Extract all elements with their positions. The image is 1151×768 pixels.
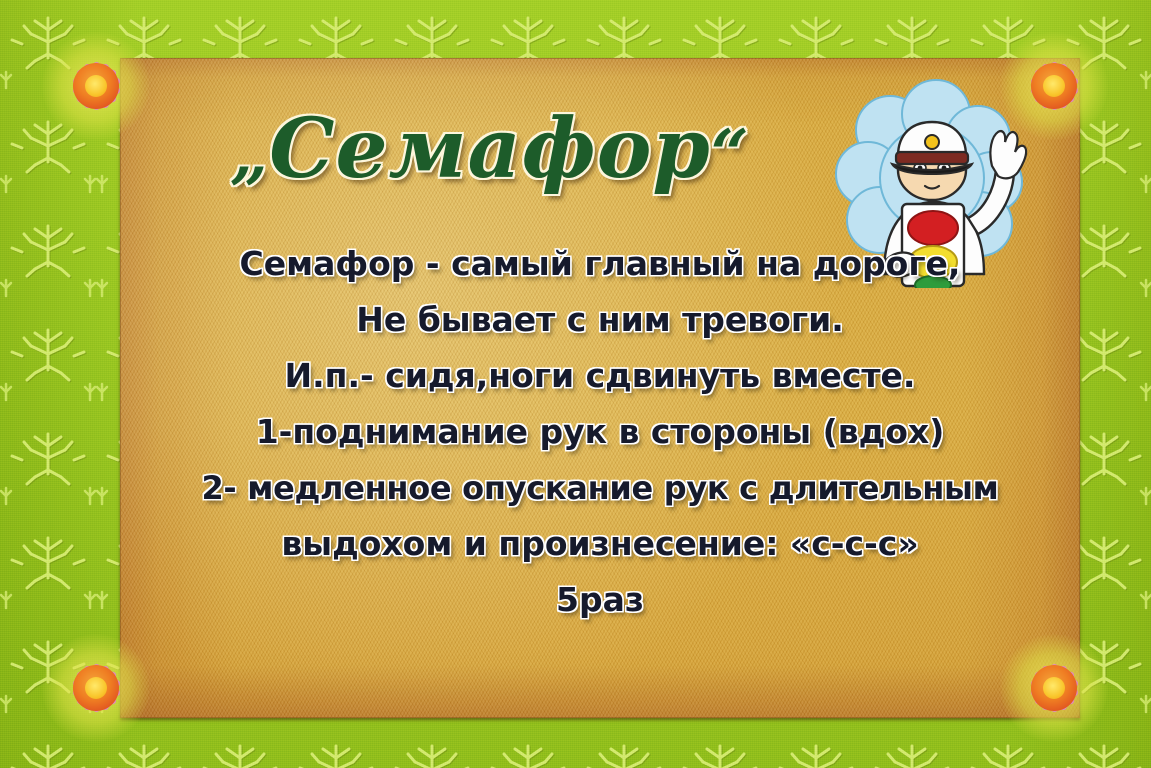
poem-line: И.п.- сидя,ноги сдвинуть вместе.	[285, 348, 916, 404]
poster-canvas: „Семафор“	[0, 0, 1151, 768]
flower-decoration-bottom-left	[42, 634, 150, 742]
flower-core-inner	[1043, 677, 1065, 699]
flower-core-inner	[1043, 75, 1065, 97]
page-title: „Семафор“	[130, 96, 850, 202]
quote-close: “	[711, 115, 750, 193]
poem-line: Семафор - самый главный на дороге,	[240, 236, 961, 292]
title-word: Семафор	[269, 101, 711, 197]
flower-core-inner	[85, 677, 107, 699]
flower-core-inner	[85, 75, 107, 97]
poem-line: 2- медленное опускание рук с длительным	[201, 460, 998, 516]
title-text: „Семафор“	[230, 108, 749, 190]
flower-decoration-top-right	[1000, 32, 1108, 140]
flower-decoration-top-left	[42, 32, 150, 140]
poem-line: 5раз	[556, 572, 644, 628]
poem-line: 1-поднимание рук в стороны (вдох)	[256, 404, 945, 460]
flower-decoration-bottom-right	[1000, 634, 1108, 742]
quote-open: „	[230, 115, 269, 193]
poem-text-block: Семафор - самый главный на дороге, Не бы…	[130, 236, 1070, 628]
poem-line: Не бывает с ним тревоги.	[356, 292, 844, 348]
poem-line: выдохом и произнесение: «с-с-с»	[281, 516, 918, 572]
